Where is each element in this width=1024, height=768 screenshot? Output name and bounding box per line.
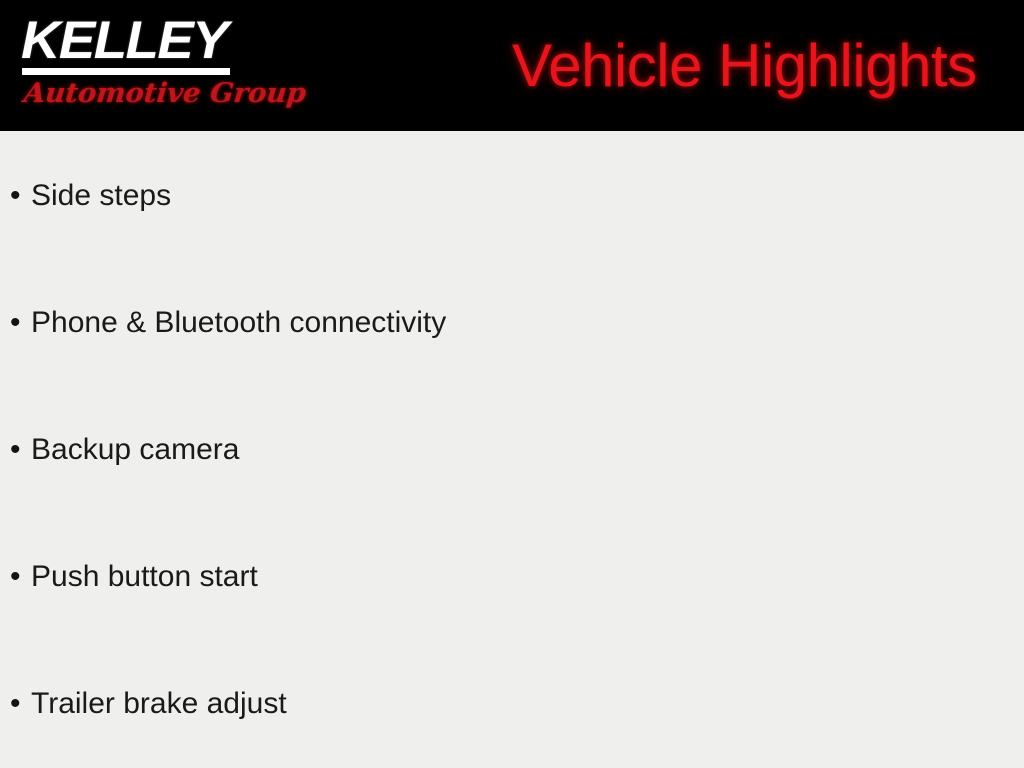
slide-header: KELLEY Automotive Group Vehicle Highligh… — [0, 0, 1024, 131]
logo-wordmark: KELLEY — [21, 18, 239, 64]
list-item-label: Side steps — [31, 179, 171, 213]
bullet-icon: • — [10, 689, 31, 719]
bullet-icon: • — [10, 435, 31, 465]
bullet-icon: • — [10, 562, 31, 592]
list-item-label: Push button start — [31, 560, 258, 594]
list-item-label: Trailer brake adjust — [31, 687, 287, 721]
list-item: • Backup camera — [10, 430, 1010, 470]
logo-tagline: Automotive Group — [22, 77, 245, 110]
bullet-icon: • — [10, 181, 31, 211]
list-item-label: Phone & Bluetooth connectivity — [31, 306, 446, 340]
logo-divider-bar — [22, 68, 230, 75]
slide-content: • Side steps • Phone & Bluetooth connect… — [0, 131, 1024, 768]
kelley-automotive-group-logo: KELLEY Automotive Group — [21, 18, 233, 114]
bullet-icon: • — [10, 308, 31, 338]
list-item: • Side steps — [10, 176, 1010, 216]
list-item: • Push button start — [10, 557, 1010, 597]
list-item: • Phone & Bluetooth connectivity — [10, 303, 1010, 343]
slide: KELLEY Automotive Group Vehicle Highligh… — [0, 0, 1024, 768]
list-item-label: Backup camera — [31, 433, 239, 467]
page-title: Vehicle Highlights — [512, 30, 1002, 102]
list-item: • Trailer brake adjust — [10, 684, 1010, 724]
